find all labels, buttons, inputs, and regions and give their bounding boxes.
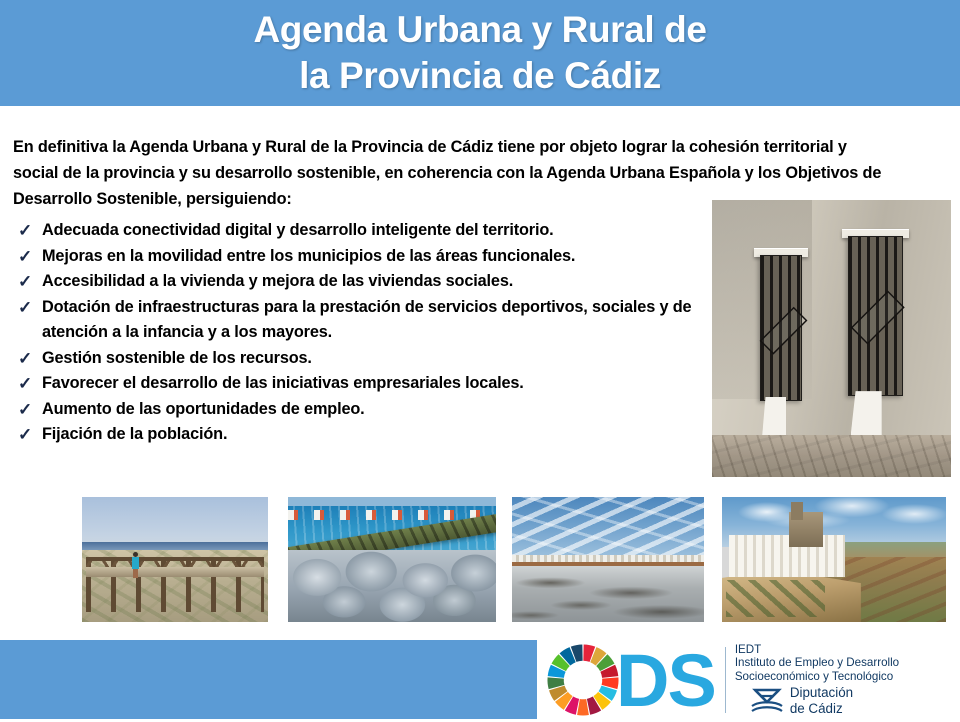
objectives-list: ✓ Adecuada conectividad digital y desarr… — [10, 218, 720, 448]
page-title-line-2: la Provincia de Cádiz — [299, 53, 661, 99]
diputacion-line-2: de Cádiz — [790, 701, 853, 717]
photo-boardwalk — [82, 497, 268, 622]
list-item: ✓ Favorecer el desarrollo de las iniciat… — [10, 371, 720, 397]
list-item-label: Dotación de infraestructuras para la pre… — [42, 295, 720, 346]
check-icon: ✓ — [10, 269, 42, 295]
ods-letters: DS — [616, 644, 715, 718]
footer-logo-panel: DS IEDT Instituto de Empleo y Desarrollo… — [537, 640, 960, 719]
photo-facade — [712, 200, 951, 477]
diputacion-row: Diputación de Cádiz — [750, 685, 960, 716]
list-item: ✓ Mejoras en la movilidad entre los muni… — [10, 244, 720, 270]
check-icon: ✓ — [10, 244, 42, 270]
list-item-label: Gestión sostenible de los recursos. — [42, 346, 720, 372]
logo-divider — [725, 647, 726, 713]
list-item: ✓ Adecuada conectividad digital y desarr… — [10, 218, 720, 244]
list-item-label: Accesibilidad a la vivienda y mejora de … — [42, 269, 720, 295]
diputacion-line-1: Diputación — [790, 685, 853, 701]
check-icon: ✓ — [10, 371, 42, 397]
check-icon: ✓ — [10, 422, 42, 448]
photo-marismas-salinas — [512, 497, 704, 622]
list-item-label: Fijación de la población. — [42, 422, 720, 448]
check-icon: ✓ — [10, 346, 42, 372]
header-banner: Agenda Urbana y Rural de la Provincia de… — [0, 0, 960, 106]
iedt-abbr: IEDT — [735, 643, 960, 657]
iedt-block: IEDT Instituto de Empleo y Desarrollo So… — [735, 643, 960, 717]
list-item: ✓ Gestión sostenible de los recursos. — [10, 346, 720, 372]
check-icon: ✓ — [10, 218, 42, 244]
page-title-line-1: Agenda Urbana y Rural de — [253, 7, 706, 53]
iedt-line-1: Instituto de Empleo y Desarrollo — [735, 656, 960, 670]
photo-almadraba-tuna — [288, 497, 496, 622]
list-item-label: Adecuada conectividad digital y desarrol… — [42, 218, 720, 244]
diputacion-de-cadiz-logo-icon — [750, 687, 784, 715]
check-icon: ✓ — [10, 295, 42, 321]
ods-sdg-wheel-icon — [546, 643, 620, 717]
list-item-label: Mejoras en la movilidad entre los munici… — [42, 244, 720, 270]
list-item: ✓ Dotación de infraestructuras para la p… — [10, 295, 720, 346]
photo-pueblo-blanco — [722, 497, 946, 622]
iedt-line-2: Socioeconómico y Tecnológico — [735, 670, 960, 684]
check-icon: ✓ — [10, 397, 42, 423]
list-item: ✓ Fijación de la población. — [10, 422, 720, 448]
list-item-label: Favorecer el desarrollo de las iniciativ… — [42, 371, 720, 397]
list-item: ✓ Accesibilidad a la vivienda y mejora d… — [10, 269, 720, 295]
diputacion-text: Diputación de Cádiz — [790, 685, 853, 716]
list-item-label: Aumento de las oportunidades de empleo. — [42, 397, 720, 423]
list-item: ✓ Aumento de las oportunidades de empleo… — [10, 397, 720, 423]
